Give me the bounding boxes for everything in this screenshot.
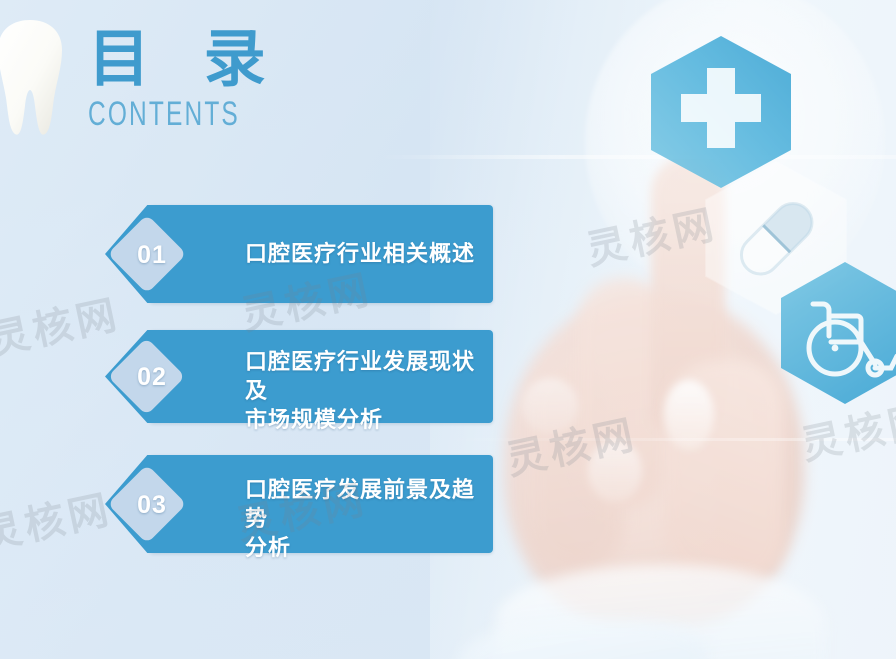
page-title-en: CONTENTS — [88, 96, 240, 132]
contents-item-label: 口腔医疗行业相关概述 — [245, 240, 475, 269]
contents-item-label: 口腔医疗发展前景及趋势 分析 — [245, 476, 493, 563]
page-title: 目 录 CONTENTS — [88, 28, 299, 132]
tooth-icon — [0, 18, 66, 140]
contents-item-label: 口腔医疗行业发展现状及 市场规模分析 — [245, 348, 493, 435]
background-highlight-band — [440, 438, 896, 441]
contents-item-number: 03 — [119, 491, 185, 520]
presentation-slide: 目 录 CONTENTS 01 口腔医疗行业相关概述 02 口腔医疗行业发展现状… — [0, 0, 896, 659]
wheelchair-hexagon-icon — [775, 258, 896, 408]
page-title-cn: 目 录 — [88, 28, 299, 90]
contents-item-number: 02 — [119, 363, 185, 392]
contents-item-number: 01 — [119, 241, 185, 270]
